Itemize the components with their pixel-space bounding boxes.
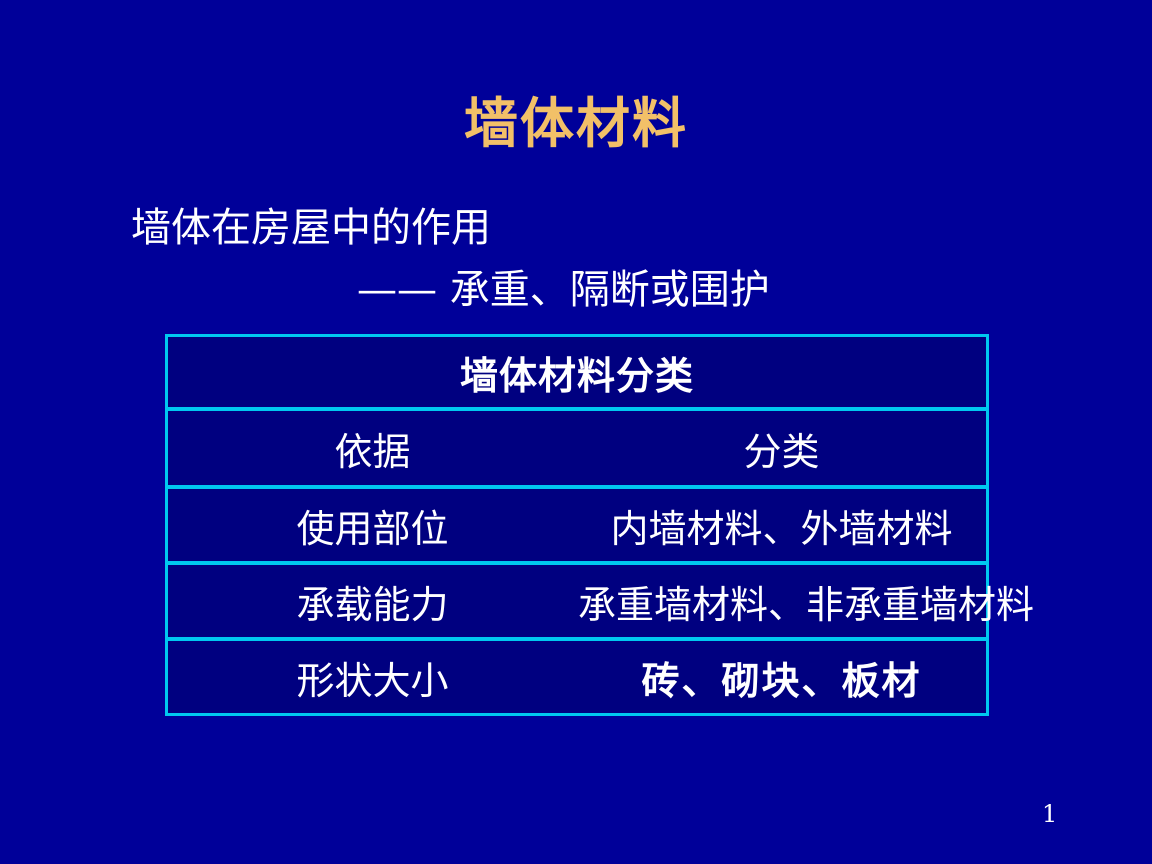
slide-canvas: 墙体材料 墙体在房屋中的作用 —— 承重、隔断或围护 墙体材料分类 依据 分类 … bbox=[0, 0, 1152, 864]
row-basis-usage-location: 使用部位 bbox=[168, 487, 577, 563]
subtitle-block: 墙体在房屋中的作用 —— 承重、隔断或围护 bbox=[0, 203, 1152, 315]
subtitle-line-secondary: —— 承重、隔断或围护 bbox=[0, 253, 1152, 315]
table-caption-row: 墙体材料分类 bbox=[168, 337, 986, 409]
column-header-classification: 分类 bbox=[577, 409, 986, 487]
row-classification-load-capacity: 承重墙材料、非承重墙材料 bbox=[577, 563, 986, 639]
classification-table-grid: 墙体材料分类 依据 分类 使用部位 内墙材料、外墙材料 承载能力 承重墙材料、非… bbox=[168, 337, 986, 713]
table-caption-cell: 墙体材料分类 bbox=[168, 337, 986, 409]
table-row: 承载能力 承重墙材料、非承重墙材料 bbox=[168, 563, 986, 639]
column-header-basis: 依据 bbox=[168, 409, 577, 487]
row-classification-usage-location: 内墙材料、外墙材料 bbox=[577, 487, 986, 563]
row-classification-shape-size: 砖、砌块、板材 bbox=[577, 639, 986, 713]
row-basis-load-capacity: 承载能力 bbox=[168, 563, 577, 639]
subtitle-line-primary: 墙体在房屋中的作用 bbox=[0, 203, 1152, 253]
page-number: 1 bbox=[1042, 800, 1057, 828]
table-header-row: 依据 分类 bbox=[168, 409, 986, 487]
table-row: 形状大小 砖、砌块、板材 bbox=[168, 639, 986, 713]
table-row: 使用部位 内墙材料、外墙材料 bbox=[168, 487, 986, 563]
classification-table: 墙体材料分类 依据 分类 使用部位 内墙材料、外墙材料 承载能力 承重墙材料、非… bbox=[165, 334, 989, 716]
row-basis-shape-size: 形状大小 bbox=[168, 639, 577, 713]
page-title: 墙体材料 bbox=[0, 94, 1152, 152]
